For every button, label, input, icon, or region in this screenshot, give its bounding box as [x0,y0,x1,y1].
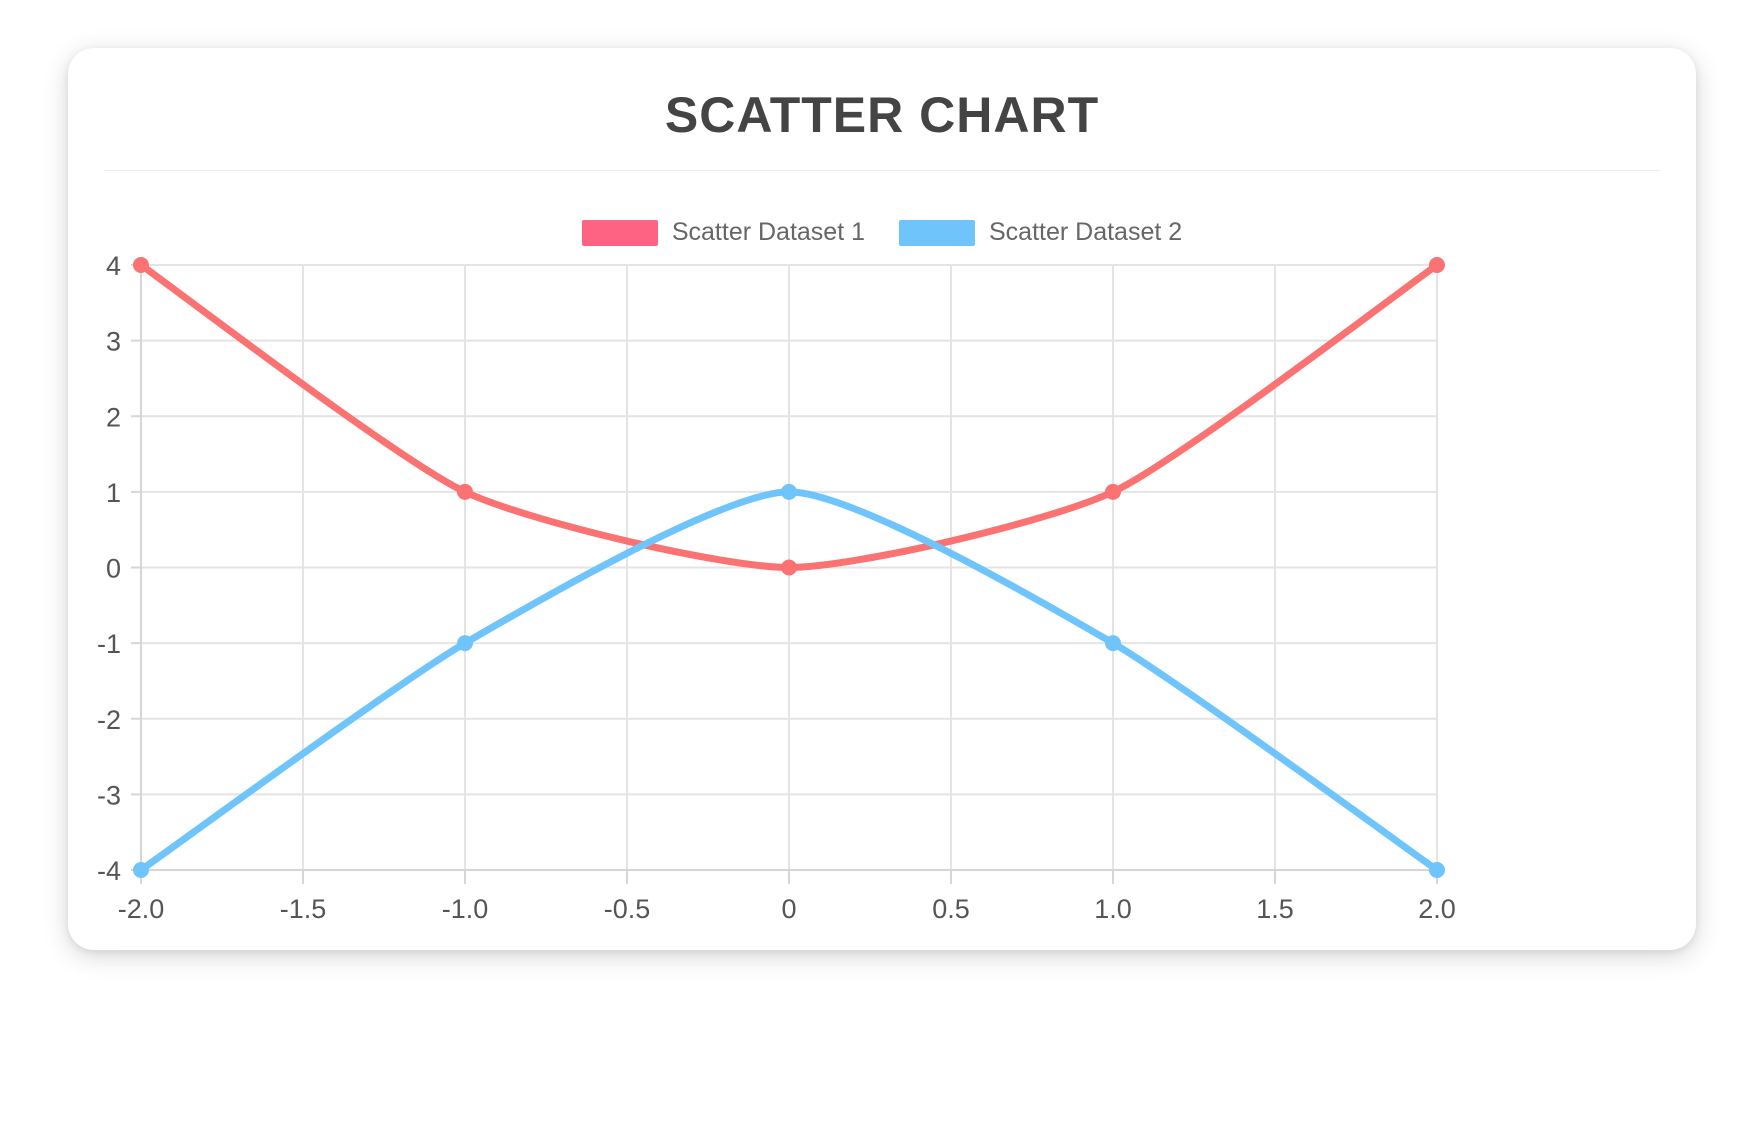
x-tick-label: -0.5 [604,894,651,924]
data-point [782,484,797,499]
data-point [458,636,473,651]
y-tick-label: -1 [97,629,121,659]
x-tick-label: 2.0 [1418,894,1456,924]
y-tick-label: -4 [97,856,121,886]
x-tick-label: -1.5 [280,894,327,924]
y-tick-label: 2 [106,402,121,432]
x-tick-label: 1.5 [1256,894,1294,924]
y-tick-label: 3 [106,327,121,357]
y-tick-label: 4 [106,251,121,281]
data-point [1430,258,1445,273]
data-point [134,863,149,878]
y-tick-label: -2 [97,705,121,735]
data-point [1106,636,1121,651]
grid-lines [131,265,1437,884]
data-point [134,258,149,273]
data-point [1430,863,1445,878]
data-point [458,484,473,499]
plot-area: -2.0-1.5-1.0-0.500.51.01.52.0 43210-1-2-… [68,48,1696,950]
x-tick-label: 0.5 [932,894,970,924]
x-tick-label: -1.0 [442,894,489,924]
y-tick-label: 1 [106,478,121,508]
scatter-plot-svg[interactable]: -2.0-1.5-1.0-0.500.51.01.52.0 43210-1-2-… [68,48,1696,950]
data-point [782,560,797,575]
x-tick-label: 1.0 [1094,894,1132,924]
y-axis-tick-labels: 43210-1-2-3-4 [97,251,121,886]
x-axis-tick-labels: -2.0-1.5-1.0-0.500.51.01.52.0 [118,894,1456,924]
y-tick-label: -3 [97,780,121,810]
page-root: SCATTER CHART Scatter Dataset 1 Scatter … [0,0,1763,1144]
x-tick-label: -2.0 [118,894,165,924]
data-point [1106,484,1121,499]
y-tick-label: 0 [106,554,121,584]
chart-card: SCATTER CHART Scatter Dataset 1 Scatter … [68,48,1696,950]
x-tick-label: 0 [781,894,796,924]
